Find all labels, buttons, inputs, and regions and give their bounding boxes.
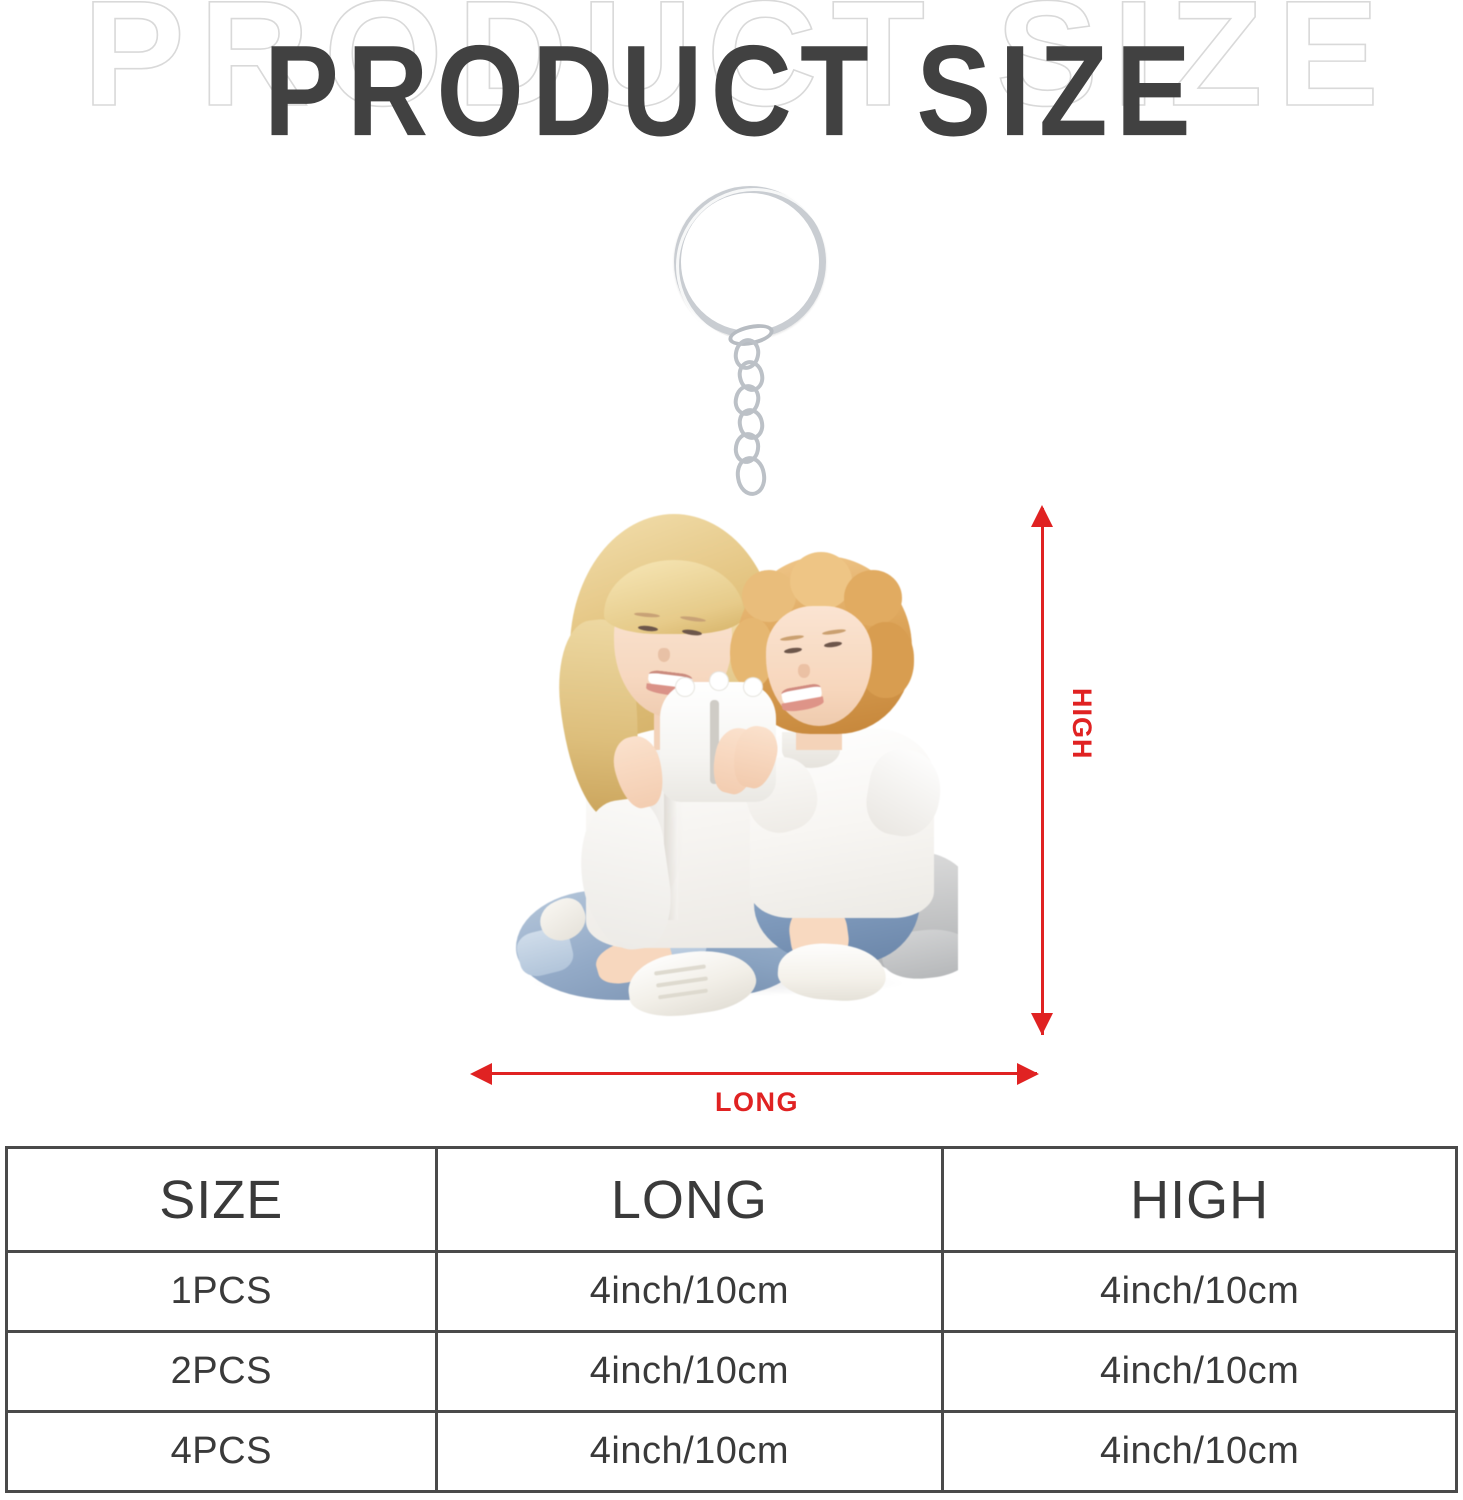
cell-high: 4inch/10cm	[943, 1412, 1457, 1492]
table-row: 2PCS 4inch/10cm 4inch/10cm	[7, 1332, 1457, 1412]
cell-long: 4inch/10cm	[436, 1252, 943, 1332]
cell-size: 1PCS	[7, 1252, 437, 1332]
paper-doll-head	[710, 672, 728, 690]
length-dimension-line	[477, 1072, 1037, 1075]
product-photo-artwork	[478, 500, 958, 1028]
height-dimension-line	[1041, 508, 1044, 1035]
cell-size: 4PCS	[7, 1412, 437, 1492]
length-arrow-left-icon	[470, 1063, 492, 1085]
page-title-block: PRODUCT SIZE PRODUCT SIZE	[0, 0, 1463, 160]
cell-high: 4inch/10cm	[943, 1332, 1457, 1412]
page-title: PRODUCT SIZE	[59, 26, 1405, 155]
keyring-hardware	[668, 186, 833, 516]
child-nose	[798, 664, 810, 678]
chain-link-icon	[726, 338, 776, 516]
chain-link	[733, 454, 768, 498]
cell-high: 4inch/10cm	[943, 1252, 1457, 1332]
column-header-long: LONG	[436, 1148, 943, 1252]
column-header-size: SIZE	[7, 1148, 437, 1252]
paper-doll-head	[676, 678, 694, 696]
mother-nose	[658, 648, 670, 662]
table-row: 1PCS 4inch/10cm 4inch/10cm	[7, 1252, 1457, 1332]
length-arrow-right-icon	[1017, 1063, 1039, 1085]
table-header-row: SIZE LONG HIGH	[7, 1148, 1457, 1252]
cell-size: 2PCS	[7, 1332, 437, 1412]
product-size-infographic: PRODUCT SIZE PRODUCT SIZE	[0, 0, 1463, 1500]
paper-doll-head	[744, 678, 762, 696]
height-arrow-up-icon	[1031, 505, 1053, 527]
cell-long: 4inch/10cm	[436, 1332, 943, 1412]
key-ring-icon	[674, 186, 826, 338]
height-arrow-down-icon	[1031, 1013, 1053, 1035]
size-table: SIZE LONG HIGH 1PCS 4inch/10cm 4inch/10c…	[5, 1146, 1458, 1493]
column-header-high: HIGH	[943, 1148, 1457, 1252]
cell-long: 4inch/10cm	[436, 1412, 943, 1492]
child-hair-curl	[790, 552, 852, 610]
height-dimension-label: HIGH	[1066, 688, 1097, 808]
length-dimension-label: LONG	[477, 1087, 1037, 1118]
table-row: 4PCS 4inch/10cm 4inch/10cm	[7, 1412, 1457, 1492]
